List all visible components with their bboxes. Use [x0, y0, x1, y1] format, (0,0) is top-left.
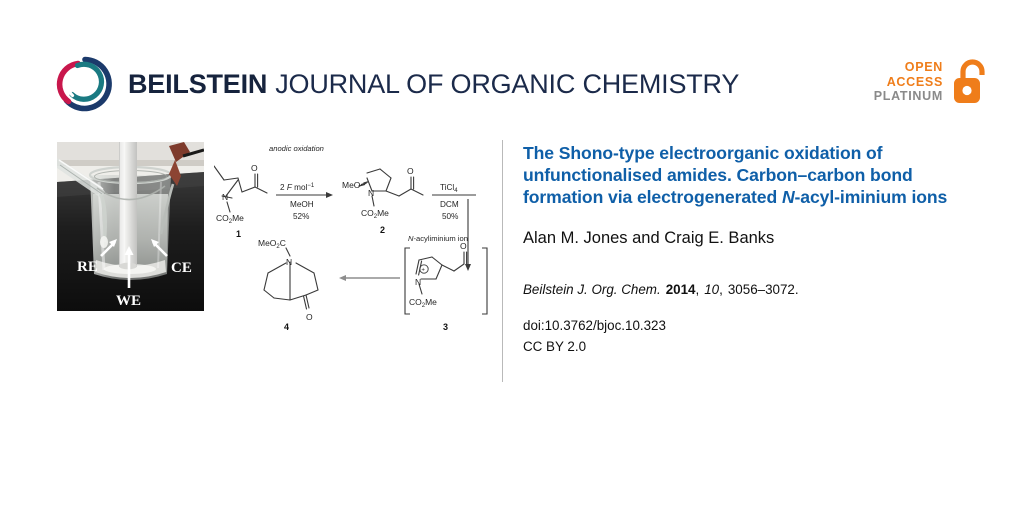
c2-nitrogen: N [368, 188, 374, 198]
electrochemical-cell-photo: RE CE WE [57, 142, 204, 311]
citation-journal: Beilstein J. Org. Chem. [523, 282, 661, 297]
article-citation: Beilstein J. Org. Chem.2014,10,3056–3072… [523, 281, 973, 299]
c1-nitrogen: N [222, 192, 228, 202]
c3-co2me: CO2Me [409, 297, 437, 309]
c3-nitrogen: N [415, 277, 421, 287]
open-access-badge[interactable]: OPEN ACCESS PLATINUM [874, 58, 990, 106]
anodic-oxidation-label: anodic oxidation [269, 144, 324, 153]
open-access-line-access: ACCESS [887, 75, 943, 90]
article-info: The Shono-type electroorganic oxidation … [523, 142, 973, 358]
journal-title-strong: BEILSTEIN [128, 69, 267, 99]
c2-meo: MeO [342, 180, 361, 190]
article-authors: Alan M. Jones and Craig E. Banks [523, 228, 973, 249]
reagent-2-label: TiCl4 [440, 183, 458, 194]
c2-oxygen: O [407, 166, 414, 176]
c2-co2me: CO2Me [361, 208, 389, 220]
article-title-part2: -acyl-iminium ions [795, 187, 948, 207]
compound-label-1: 1 [236, 229, 241, 239]
photo-label-re: RE [77, 259, 98, 275]
open-access-wordmark: OPEN ACCESS PLATINUM [874, 60, 943, 104]
compound-label-4: 4 [284, 322, 289, 332]
solvent-2-label: DCM [440, 200, 459, 209]
yield-1-label: 52% [293, 212, 309, 221]
open-access-line-platinum: PLATINUM [874, 89, 943, 104]
open-access-line-open: OPEN [905, 60, 943, 75]
c4-meo2c: MeO2C [258, 238, 286, 250]
citation-volume: 10 [704, 282, 719, 297]
article-doi[interactable]: doi:10.3762/bjoc.10.323 [523, 316, 973, 337]
article-title-italic-n: N [782, 187, 795, 207]
content-area: RE CE WE N [0, 130, 1024, 512]
citation-pages: 3056–3072. [728, 282, 799, 297]
compound-label-3: 3 [443, 322, 448, 332]
vertical-divider [502, 140, 503, 382]
journal-title-rest: JOURNAL OF ORGANIC CHEMISTRY [275, 69, 739, 99]
open-padlock-icon [950, 58, 990, 106]
c1-oxygen: O [251, 163, 258, 173]
photo-label-ce: CE [171, 260, 192, 276]
charge-label: 2 F mol−1 [280, 183, 315, 192]
journal-title: BEILSTEINJOURNAL OF ORGANIC CHEMISTRY [128, 71, 739, 98]
compound-label-2: 2 [380, 225, 385, 235]
c3-positive-charge: + [421, 268, 425, 274]
photo-label-we: WE [116, 293, 141, 309]
article-title: The Shono-type electroorganic oxidation … [523, 142, 973, 208]
c1-co2me: CO2Me [216, 213, 244, 225]
yield-2-label: 50% [442, 212, 458, 221]
solvent-1-label: MeOH [290, 200, 314, 209]
beilstein-spiral-logo-icon [56, 55, 114, 113]
acyliminium-label: N-acyliminium ion [408, 234, 468, 243]
c3-oxygen: O [460, 241, 467, 251]
citation-year: 2014 [666, 282, 696, 297]
c4-oxygen: O [306, 312, 313, 322]
reaction-scheme: N CO2Me O 1 anodic oxidation 2 F mol−1 M… [214, 138, 494, 338]
journal-logo-block[interactable]: BEILSTEINJOURNAL OF ORGANIC CHEMISTRY [56, 55, 739, 113]
article-license[interactable]: CC BY 2.0 [523, 337, 973, 358]
c4-nitrogen: N [286, 257, 292, 267]
article-meta: doi:10.3762/bjoc.10.323 CC BY 2.0 [523, 316, 973, 358]
masthead: BEILSTEINJOURNAL OF ORGANIC CHEMISTRY OP… [0, 0, 1024, 130]
